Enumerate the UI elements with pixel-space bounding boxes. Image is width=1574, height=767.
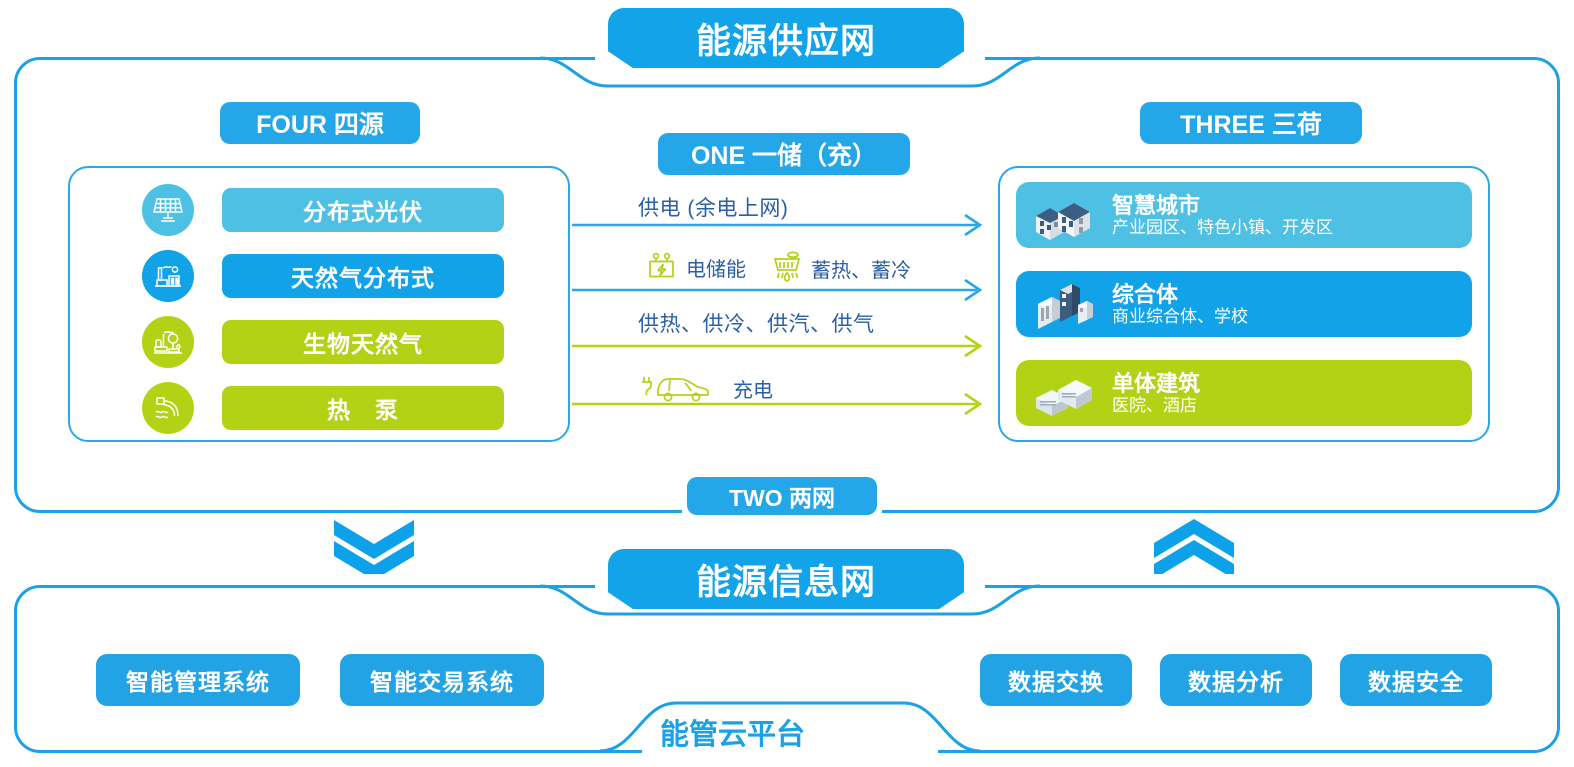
load-title-single-building: 单体建筑 [1112,371,1200,396]
section-label-four-text: FOUR 四源 [256,105,384,141]
section-label-one-text: ONE 一储（充） [691,136,877,172]
source-label-solar-text: 分布式光伏 [303,193,423,227]
source-label-biogas-text: 生物天然气 [303,325,423,359]
tag-smart-management-system-label: 智能管理系统 [126,663,270,697]
heat-pump-icon [142,382,194,434]
flow-arrow-charging [572,392,992,416]
tag-data-analysis-label: 数据分析 [1188,663,1284,697]
tag-data-analysis[interactable]: 数据分析 [1160,654,1312,706]
tag-data-exchange[interactable]: 数据交换 [980,654,1132,706]
tag-smart-trading-system[interactable]: 智能交易系统 [340,654,544,706]
load-row-single-building[interactable]: 单体建筑 医院、酒店 [1016,360,1472,426]
load-sub-single-building: 医院、酒店 [1112,396,1200,415]
load-title-complex: 综合体 [1112,282,1248,307]
load-row-complex[interactable]: 综合体 商业综合体、学校 [1016,271,1472,337]
section-label-four: FOUR 四源 [220,102,420,144]
biogas-plant-icon [142,316,194,368]
chevron-down-icon [330,518,418,574]
houses-icon [1028,189,1102,241]
cloud-platform-label-text: 能管云平台 [660,719,805,751]
load-text-smart-city: 智慧城市 产业园区、特色小镇、开发区 [1112,193,1333,237]
banner-supply-network-label: 能源供应网 [696,13,876,64]
section-label-two-text: TWO 两网 [729,479,835,513]
source-label-natural-gas-text: 天然气分布式 [291,259,435,293]
load-sub-complex: 商业综合体、学校 [1112,307,1248,326]
source-label-heat-pump-text: 热 泵 [327,391,399,425]
chevron-up-icon [1150,518,1238,574]
cloud-platform-label: 能管云平台 [660,711,805,753]
load-text-complex: 综合体 商业综合体、学校 [1112,282,1248,326]
source-label-solar: 分布式光伏 [222,188,504,232]
tag-smart-management-system[interactable]: 智能管理系统 [96,654,300,706]
source-label-heat-pump: 热 泵 [222,386,504,430]
tag-data-exchange-label: 数据交换 [1008,663,1104,697]
flow-arrow-electricity [572,213,992,237]
tag-data-security[interactable]: 数据安全 [1340,654,1492,706]
flow-arrow-thermal-supply [572,334,992,358]
banner-info-network-label: 能源信息网 [696,554,876,605]
source-row-heat-pump[interactable]: 热 泵 [142,382,504,434]
solar-panel-icon [142,184,194,236]
flow-arrow-storage [572,278,992,302]
tag-smart-trading-system-label: 智能交易系统 [370,663,514,697]
section-label-three: THREE 三荷 [1140,102,1362,144]
source-row-solar[interactable]: 分布式光伏 [142,184,504,236]
energy-network-diagram: 能源供应网 FOUR 四源 分布式光伏 [0,0,1574,767]
tag-data-security-label: 数据安全 [1368,663,1464,697]
source-row-natural-gas[interactable]: 天然气分布式 [142,250,504,302]
gas-plant-icon [142,250,194,302]
source-label-biogas: 生物天然气 [222,320,504,364]
towers-icon [1028,278,1102,330]
source-label-natural-gas: 天然气分布式 [222,254,504,298]
section-label-two: TWO 两网 [687,477,877,515]
flow-label-thermal-supply-text: 供热、供冷、供汽、供气 [638,313,875,336]
banner-info-network: 能源信息网 [608,549,964,609]
load-text-single-building: 单体建筑 医院、酒店 [1112,371,1200,415]
banner-supply-network: 能源供应网 [608,8,964,68]
load-sub-smart-city: 产业园区、特色小镇、开发区 [1112,218,1333,237]
section-label-one: ONE 一储（充） [658,133,910,175]
load-title-smart-city: 智慧城市 [1112,193,1333,218]
loads-list: 智慧城市 产业园区、特色小镇、开发区 [998,166,1490,442]
flat-block-icon [1028,367,1102,419]
section-label-three-text: THREE 三荷 [1180,105,1322,141]
load-row-smart-city[interactable]: 智慧城市 产业园区、特色小镇、开发区 [1016,182,1472,248]
source-row-biogas[interactable]: 生物天然气 [142,316,504,368]
